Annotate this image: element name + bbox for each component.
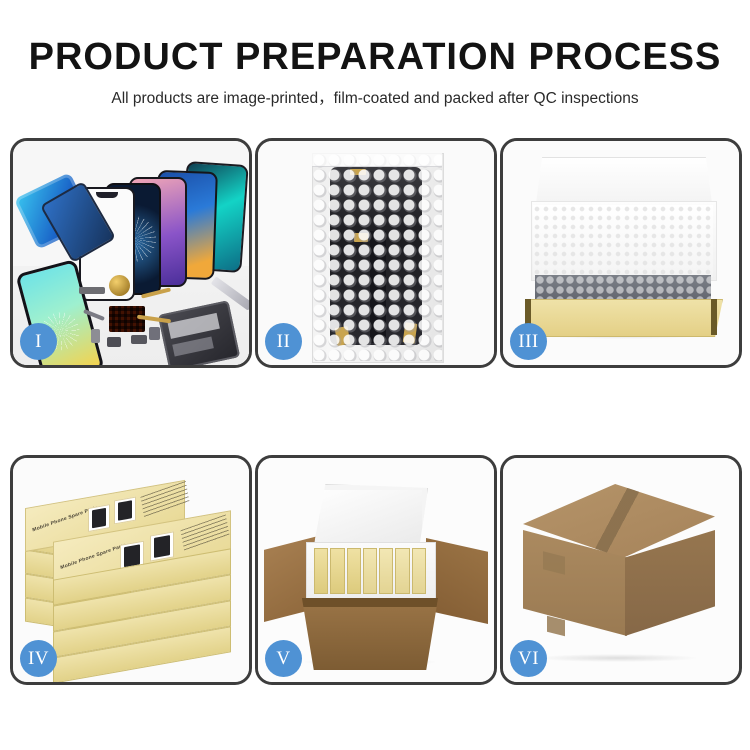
- component-part-icon: [79, 287, 105, 294]
- step-badge-1: I: [20, 323, 57, 360]
- step-badge-2: II: [265, 323, 302, 360]
- step-badge-5: V: [265, 640, 302, 677]
- yellow-box-item: [314, 548, 328, 594]
- foam-cooler-lid-icon: [314, 484, 428, 550]
- box-corner-icon: [711, 299, 717, 335]
- process-step-card-3: III: [500, 138, 742, 368]
- process-step-card-5: V: [255, 455, 497, 685]
- vibration-motor-icon: [109, 275, 130, 296]
- bag-seal-icon: [312, 153, 442, 167]
- page-subtitle: All products are image-printed，film-coat…: [0, 91, 750, 107]
- box-spec-lines: [180, 514, 229, 551]
- carton-top-rim-icon: [296, 598, 444, 607]
- step-badge-6: VI: [510, 640, 547, 677]
- step-badge-4: IV: [20, 640, 57, 677]
- yellow-box-item: [363, 548, 377, 594]
- process-step-card-6: VI: [500, 455, 742, 685]
- yellow-box-item: [347, 548, 361, 594]
- step-badge-3: III: [510, 323, 547, 360]
- box-window-icon: [150, 531, 174, 561]
- box-brand-text: Mobile Phone Spare Parts: [60, 542, 127, 571]
- bubble-texture-icon: [312, 153, 442, 361]
- carton-front-wall-icon: [296, 598, 444, 670]
- box-front-wall-icon: [525, 299, 723, 337]
- page-header: PRODUCT PREPARATION PROCESS All products…: [0, 0, 750, 107]
- page-title: PRODUCT PREPARATION PROCESS: [0, 38, 750, 76]
- component-part-icon: [149, 327, 160, 340]
- process-step-card-1: I: [10, 138, 252, 368]
- box-window-icon: [88, 504, 110, 532]
- yellow-box-item: [412, 548, 426, 594]
- box-window-icon: [114, 497, 136, 525]
- box-spec-lines: [140, 481, 189, 518]
- component-part-icon: [107, 337, 121, 347]
- drop-shadow: [537, 654, 697, 662]
- process-step-card-4: Mobile Phone Spare Parts Mobile Phone Sp…: [10, 455, 252, 685]
- yellow-box-item: [395, 548, 409, 594]
- yellow-boxes-group: [314, 550, 426, 594]
- foam-sheet-icon: [533, 205, 713, 277]
- component-part-icon: [91, 329, 100, 343]
- component-part-icon: [131, 335, 147, 344]
- yellow-box-item: [330, 548, 344, 594]
- phone-notch-icon: [96, 192, 118, 198]
- yellow-box-item: [379, 548, 393, 594]
- process-step-card-2: II: [255, 138, 497, 368]
- process-step-grid: I II III: [10, 138, 742, 685]
